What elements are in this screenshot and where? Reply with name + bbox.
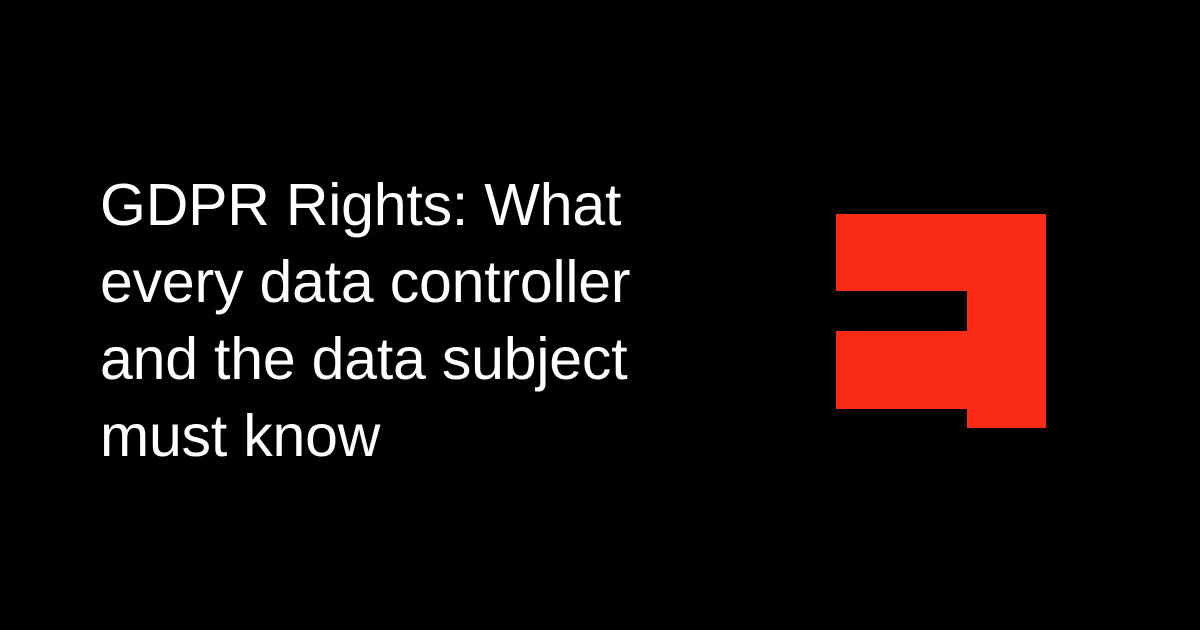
- page-title: GDPR Rights: What every data controller …: [100, 167, 760, 475]
- logo-block-top-shape: [836, 214, 1046, 331]
- social-share-card: GDPR Rights: What every data controller …: [0, 0, 1200, 630]
- brand-logo: [836, 214, 1046, 428]
- logo-block-bottom-shape: [836, 331, 1046, 428]
